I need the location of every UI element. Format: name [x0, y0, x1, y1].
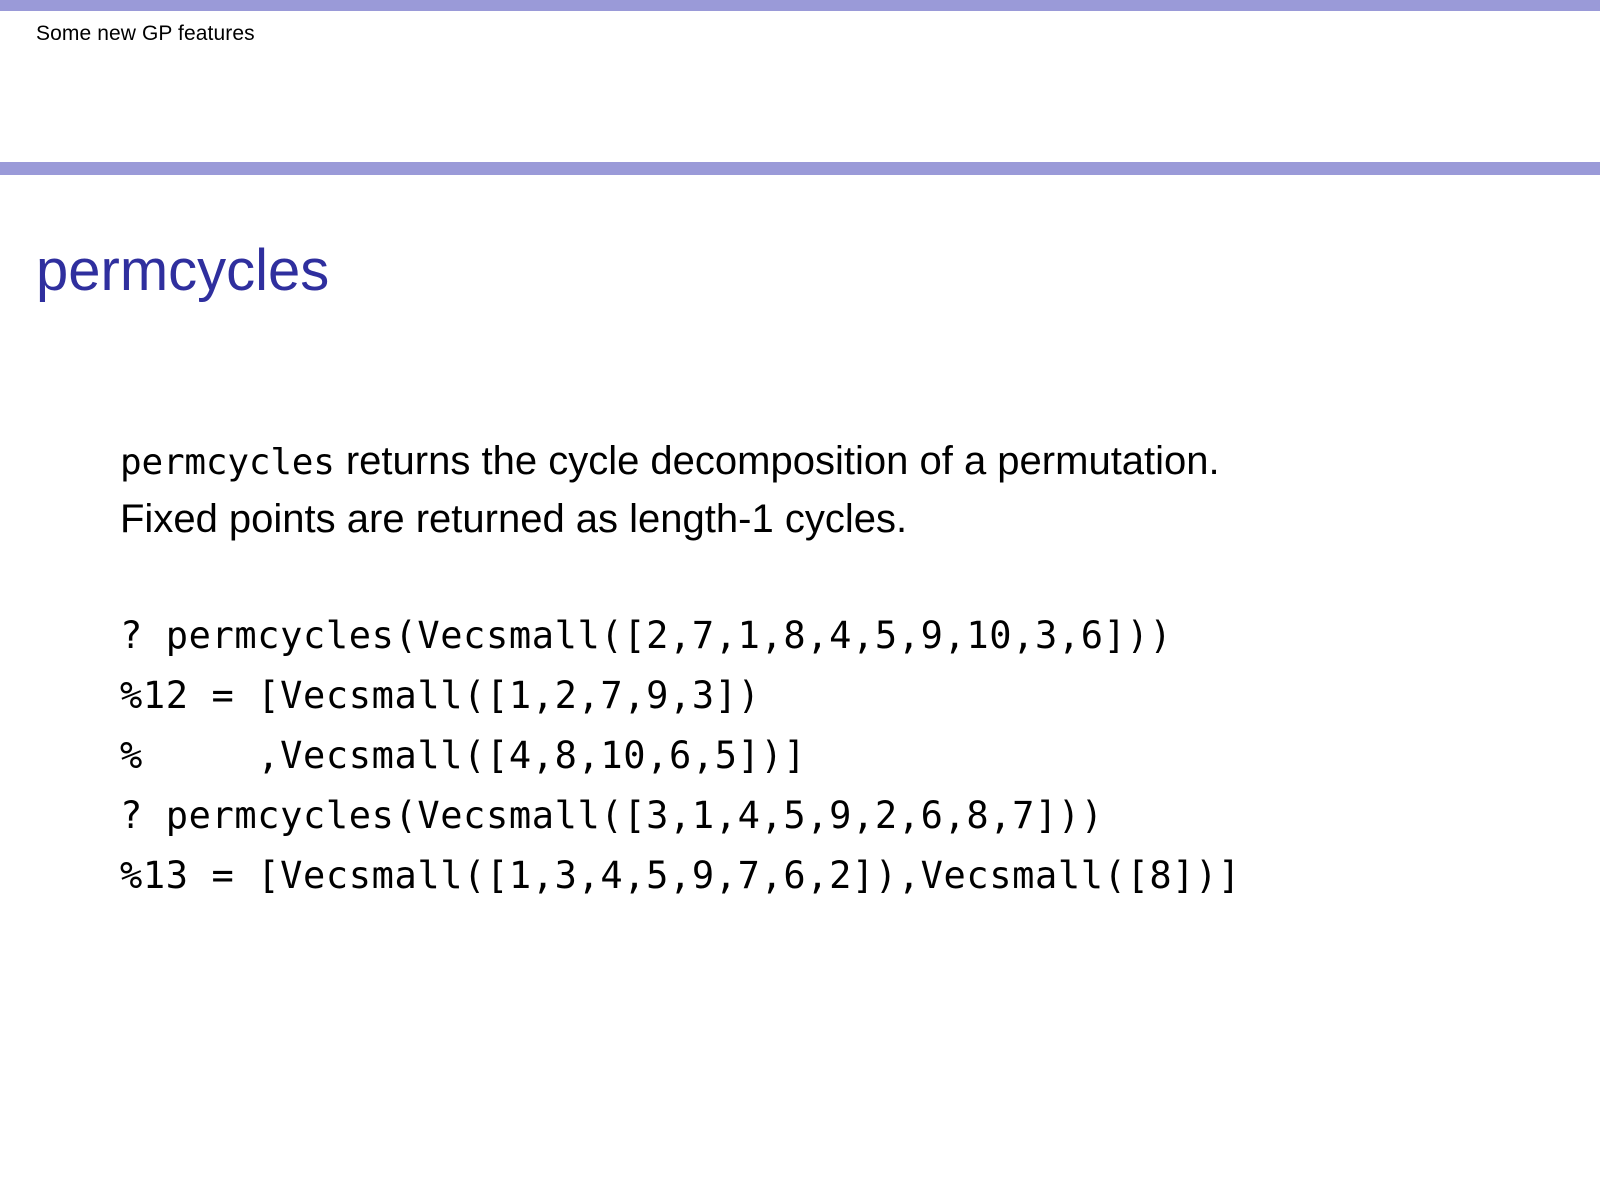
- code-line: %13 = [Vecsmall([1,3,4,5,9,7,6,2]),Vecsm…: [120, 846, 1550, 906]
- page-title: permcycles: [36, 239, 329, 303]
- code-line: %12 = [Vecsmall([1,2,7,9,3]): [120, 666, 1550, 726]
- description-paragraph: permcycles returns the cycle decompositi…: [120, 432, 1320, 549]
- top-accent-bar: [0, 0, 1600, 11]
- code-block: ? permcycles(Vecsmall([2,7,1,8,4,5,9,10,…: [120, 606, 1550, 906]
- inline-code-permcycles: permcycles: [120, 442, 335, 483]
- code-line: ? permcycles(Vecsmall([3,1,4,5,9,2,6,8,7…: [120, 786, 1550, 846]
- code-line: % ,Vecsmall([4,8,10,6,5])]: [120, 726, 1550, 786]
- header-separator-bar: [0, 162, 1600, 175]
- code-line: ? permcycles(Vecsmall([2,7,1,8,4,5,9,10,…: [120, 606, 1550, 666]
- slide-headline: Some new GP features: [36, 22, 255, 46]
- slide-content: permcycles returns the cycle decompositi…: [120, 432, 1550, 905]
